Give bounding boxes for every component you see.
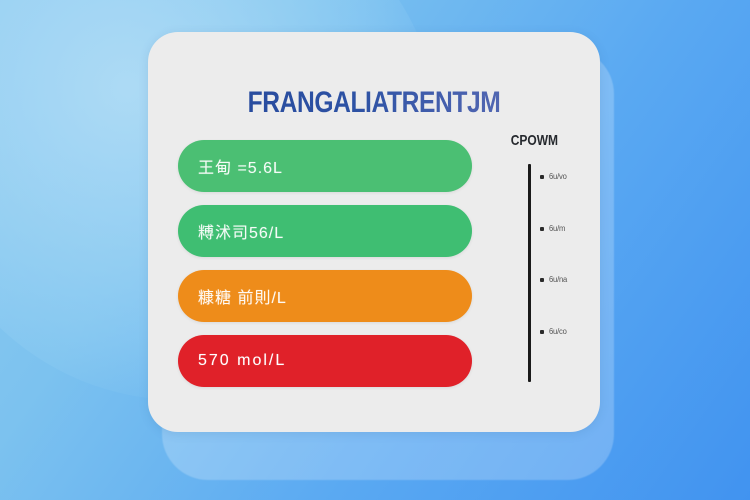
tick-marker-icon (540, 227, 544, 231)
tick-marker-icon (540, 330, 544, 334)
bar-row-1[interactable]: 王甸 =5.6L (178, 140, 472, 192)
info-card: FRANGALIATRENTJM 王甸 =5.6L 糐沭司56/L 糠糖 前則/… (148, 32, 600, 432)
scale-tick-label-3: 6u/na (549, 275, 567, 284)
scale-tick-1: 6u/vo (540, 172, 568, 181)
scale-tick-label-2: 6u/m (549, 224, 565, 233)
bar-label-2: 糐沭司56/L (198, 219, 284, 243)
bar-label-1: 王甸 =5.6L (198, 154, 283, 178)
scale-axis-line (528, 164, 531, 382)
scale-legend: CPOWM 6u/vo 6u/m 6u/na 6u/co (504, 132, 596, 382)
bar-row-3[interactable]: 糠糖 前則/L (178, 270, 472, 322)
scale-tick-4: 6u/co (540, 327, 568, 336)
bar-label-3: 糠糖 前則/L (198, 284, 287, 308)
screenshot-stage: FRANGALIATRENTJM 王甸 =5.6L 糐沭司56/L 糠糖 前則/… (0, 0, 750, 500)
scale-tick-2: 6u/m (540, 224, 566, 233)
page-title: FRANGALIATRENTJM (189, 88, 560, 118)
scale-title: CPOWM (504, 132, 565, 149)
scale-tick-3: 6u/na (540, 275, 568, 284)
bar-row-2[interactable]: 糐沭司56/L (178, 205, 472, 257)
bar-list: 王甸 =5.6L 糐沭司56/L 糠糖 前則/L 570 mol/L (178, 140, 472, 400)
bar-row-4[interactable]: 570 mol/L (178, 335, 472, 387)
scale-tick-label-4: 6u/co (549, 327, 567, 336)
tick-marker-icon (540, 175, 544, 179)
scale-tick-label-1: 6u/vo (549, 172, 567, 181)
tick-marker-icon (540, 278, 544, 282)
bar-label-4: 570 mol/L (198, 352, 286, 370)
